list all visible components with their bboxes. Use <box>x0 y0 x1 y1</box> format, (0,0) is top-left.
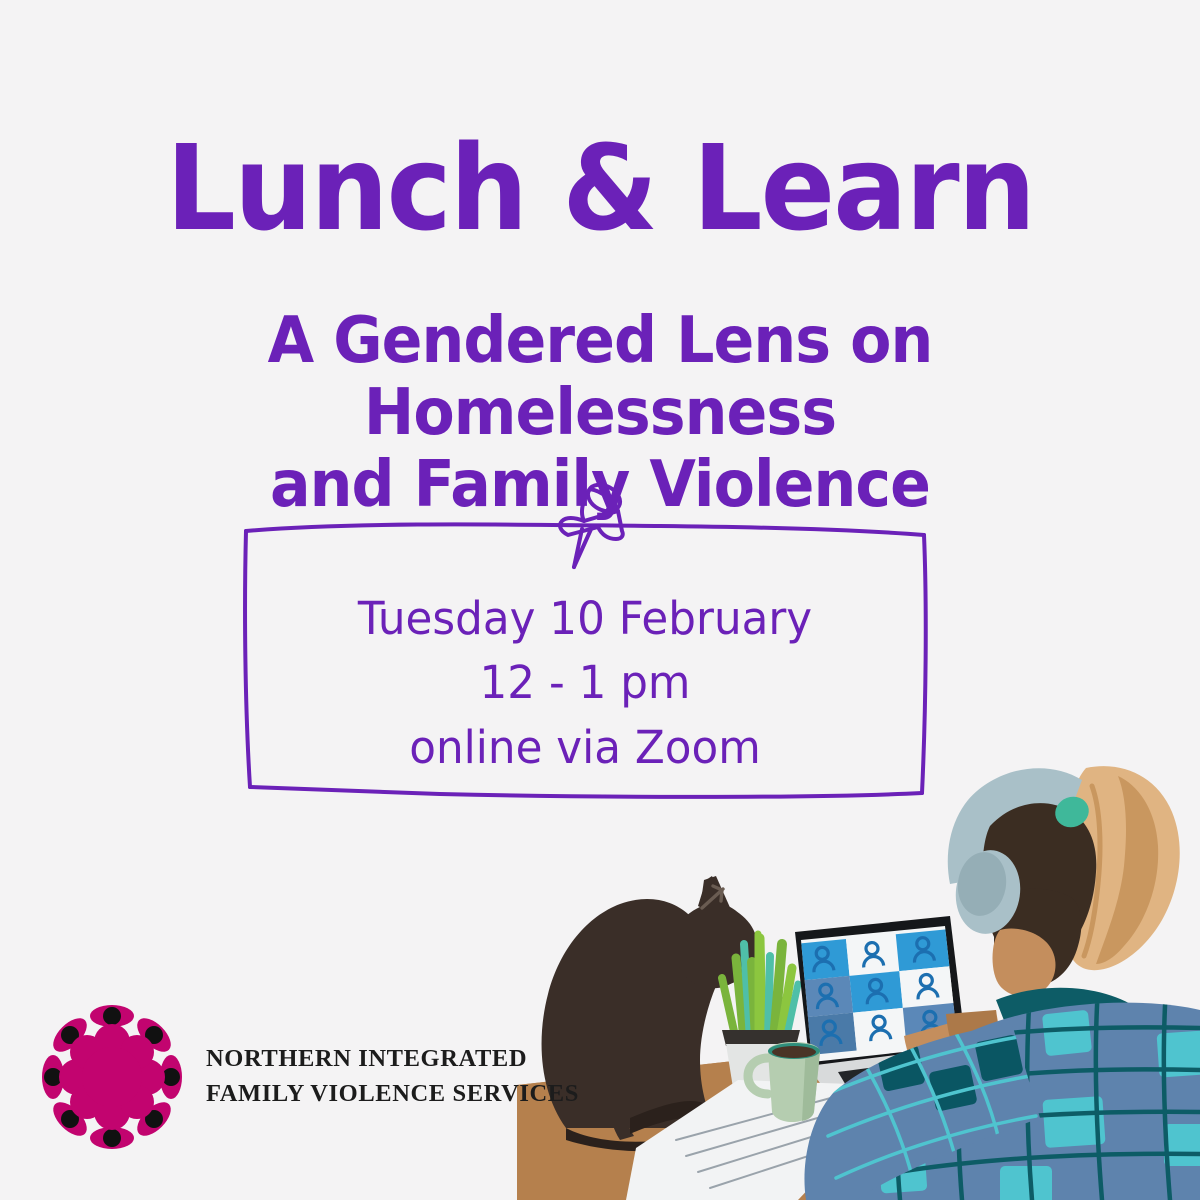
coffee-mug <box>748 1042 820 1122</box>
desk-surface <box>517 1042 1200 1200</box>
organisation-name-line-1: NORTHERN INTEGRATED <box>206 1042 579 1077</box>
event-details-text: Tuesday 10 February 12 - 1 pm online via… <box>250 587 919 780</box>
page-title: Lunch & Learn <box>42 128 1158 248</box>
lined-paper <box>626 1080 906 1200</box>
headline-block: Lunch & Learn A Gendered Lens on Homeles… <box>0 0 1200 521</box>
event-date: Tuesday 10 February <box>250 587 919 651</box>
organisation-name-line-2: FAMILY VIOLENCE SERVICES <box>206 1077 579 1112</box>
page-subtitle: A Gendered Lens on Homelessness and Fami… <box>36 306 1164 521</box>
subtitle-line-1: A Gendered Lens on Homelessness <box>268 304 933 450</box>
nifvs-logo-mark-icon <box>40 1002 184 1152</box>
person-with-headphones <box>904 766 1180 1120</box>
subtitle-line-2: and Family Violence <box>270 448 930 522</box>
organisation-logo: NORTHERN INTEGRATED FAMILY VIOLENCE SERV… <box>40 1002 579 1152</box>
laptop <box>795 916 1000 1120</box>
organisation-name: NORTHERN INTEGRATED FAMILY VIOLENCE SERV… <box>206 1042 579 1112</box>
event-details-card: Tuesday 10 February 12 - 1 pm online via… <box>240 517 930 799</box>
event-location: online via Zoom <box>250 716 919 780</box>
plaid-shirt <box>790 980 1200 1200</box>
event-time: 12 - 1 pm <box>250 651 919 715</box>
potted-grass-plant <box>722 934 800 1094</box>
poster-canvas: Lunch & Learn A Gendered Lens on Homeles… <box>0 0 1200 1200</box>
